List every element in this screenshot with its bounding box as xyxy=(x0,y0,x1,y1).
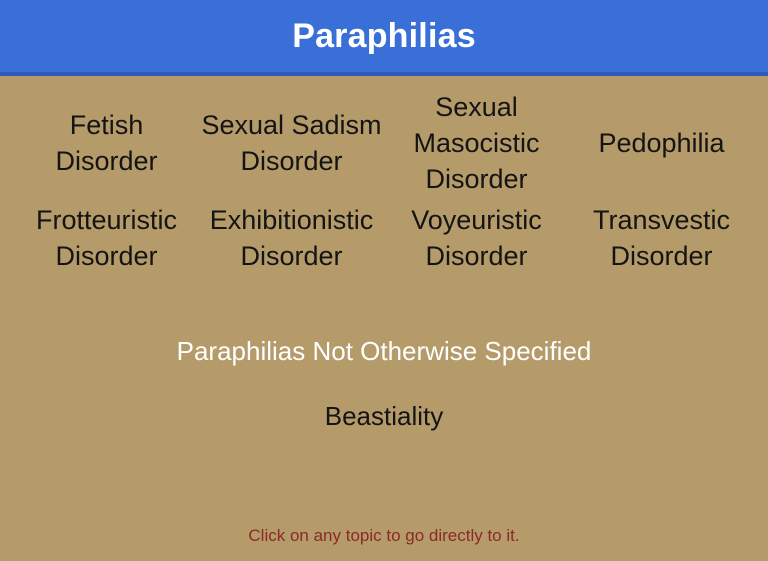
topic-link-fetish-disorder[interactable]: Fetish Disorder xyxy=(14,107,199,179)
topic-link-sexual-masocistic-disorder[interactable]: Sexual Masocistic Disorder xyxy=(384,89,569,197)
topic-link-pedophilia[interactable]: Pedophilia xyxy=(569,125,754,161)
topic-row: Frotteuristic Disorder Exhibitionistic D… xyxy=(14,202,754,302)
slide-footer: Click on any topic to go directly to it. xyxy=(0,525,768,547)
page-title: Paraphilias xyxy=(292,19,476,53)
topic-link-paraphilias-not-otherwise-specified[interactable]: Paraphilias Not Otherwise Specified xyxy=(0,334,768,368)
center-topic-list: Paraphilias Not Otherwise Specified Beas… xyxy=(0,334,768,433)
topic-link-sexual-sadism-disorder[interactable]: Sexual Sadism Disorder xyxy=(199,107,384,179)
topic-link-exhibitionistic-disorder[interactable]: Exhibitionistic Disorder xyxy=(199,202,384,274)
topic-link-voyeuristic-disorder[interactable]: Voyeuristic Disorder xyxy=(384,202,569,274)
header-divider xyxy=(0,72,768,76)
topic-grid: Fetish Disorder Sexual Sadism Disorder S… xyxy=(14,84,754,302)
topic-link-transvestic-disorder[interactable]: Transvestic Disorder xyxy=(569,202,754,274)
slide-header: Paraphilias xyxy=(0,0,768,72)
slide: Paraphilias Fetish Disorder Sexual Sadis… xyxy=(0,0,768,561)
topic-link-frotteuristic-disorder[interactable]: Frotteuristic Disorder xyxy=(14,202,199,274)
topic-link-beastiality[interactable]: Beastiality xyxy=(0,399,768,433)
footer-instruction-text: Click on any topic to go directly to it. xyxy=(0,525,768,547)
topic-row: Fetish Disorder Sexual Sadism Disorder S… xyxy=(14,84,754,202)
